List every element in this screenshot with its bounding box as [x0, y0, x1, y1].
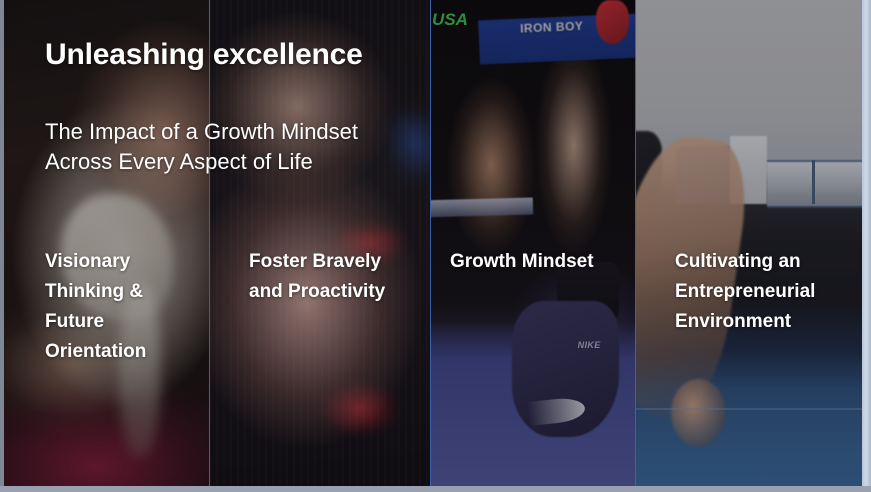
panel-caption-growth-mindset: Growth Mindset	[450, 247, 630, 277]
panel-cultivating-environment[interactable]	[635, 0, 862, 486]
right-rail	[862, 0, 871, 486]
panel-1-overlay	[4, 0, 209, 486]
left-rail	[0, 0, 4, 486]
page-subtitle: The Impact of a Growth Mindset Across Ev…	[45, 117, 425, 177]
panel-caption-visionary-thinking: Visionary Thinking & Future Orientation	[45, 247, 205, 367]
panel-caption-foster-bravely: Foster Bravely and Proactivity	[249, 247, 419, 307]
panel-visionary-thinking[interactable]	[4, 0, 209, 486]
slide-canvas: USA IRON BOY NIKE	[0, 0, 871, 492]
page-title: Unleashing excellence	[45, 38, 745, 72]
panel-caption-cultivating-environment: Cultivating an Entrepreneurial Environme…	[675, 247, 855, 337]
panel-3-overlay	[430, 0, 635, 486]
panel-strip: USA IRON BOY NIKE	[4, 0, 862, 486]
panel-2-overlay	[209, 0, 430, 486]
panel-growth-mindset[interactable]: USA IRON BOY NIKE	[430, 0, 635, 486]
bottom-rail	[0, 486, 871, 492]
panel-foster-bravely[interactable]	[209, 0, 430, 486]
panel-4-overlay	[635, 0, 862, 486]
